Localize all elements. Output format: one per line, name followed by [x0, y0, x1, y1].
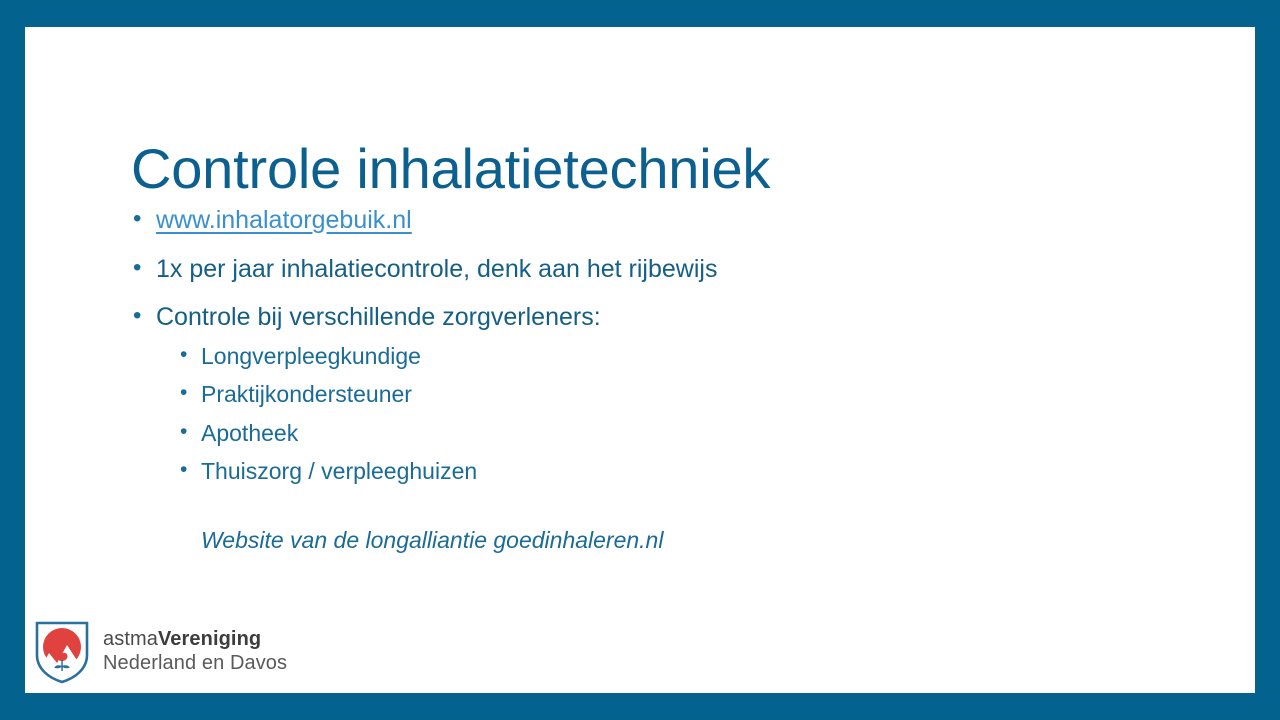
list-item: Longverpleegkundige: [178, 343, 1191, 371]
logo-line-1: astmaVereniging: [103, 628, 287, 652]
logo-line-2: Nederland en Davos: [103, 652, 287, 676]
logo-astma-text: astma: [103, 628, 158, 650]
list-item: Apotheek: [178, 420, 1191, 448]
slide-body: www.inhalatorgebuik.nl 1x per jaar inhal…: [131, 205, 1191, 561]
list-item: Praktijkondersteuner: [178, 381, 1191, 409]
slide-content-area: Controle inhalatietechniek www.inhalator…: [25, 27, 1255, 693]
website-note: Website van de longalliantie goedinhaler…: [201, 526, 1191, 554]
shield-icon: [33, 619, 91, 685]
logo-wordmark: astmaVereniging Nederland en Davos: [103, 628, 287, 675]
list-item: 1x per jaar inhalatiecontrole, denk aan …: [131, 254, 1191, 285]
logo-vereniging-text: Vereniging: [158, 628, 261, 650]
bullet-list-level1: www.inhalatorgebuik.nl 1x per jaar inhal…: [131, 205, 1191, 554]
list-item: Thuiszorg / verpleeghuizen: [178, 458, 1191, 486]
bullet-list-level2: Longverpleegkundige Praktijkondersteuner…: [178, 343, 1191, 486]
list-item-label: Controle bij verschillende zorgverleners…: [156, 303, 601, 331]
astma-vereniging-logo: astmaVereniging Nederland en Davos: [33, 619, 287, 685]
page-title: Controle inhalatietechniek: [131, 138, 1181, 201]
list-item: www.inhalatorgebuik.nl: [131, 205, 1191, 236]
inhalatorgebruik-link[interactable]: www.inhalatorgebuik.nl: [156, 206, 412, 234]
list-item: Controle bij verschillende zorgverleners…: [131, 302, 1191, 554]
presentation-slide: Controle inhalatietechniek www.inhalator…: [0, 0, 1280, 720]
